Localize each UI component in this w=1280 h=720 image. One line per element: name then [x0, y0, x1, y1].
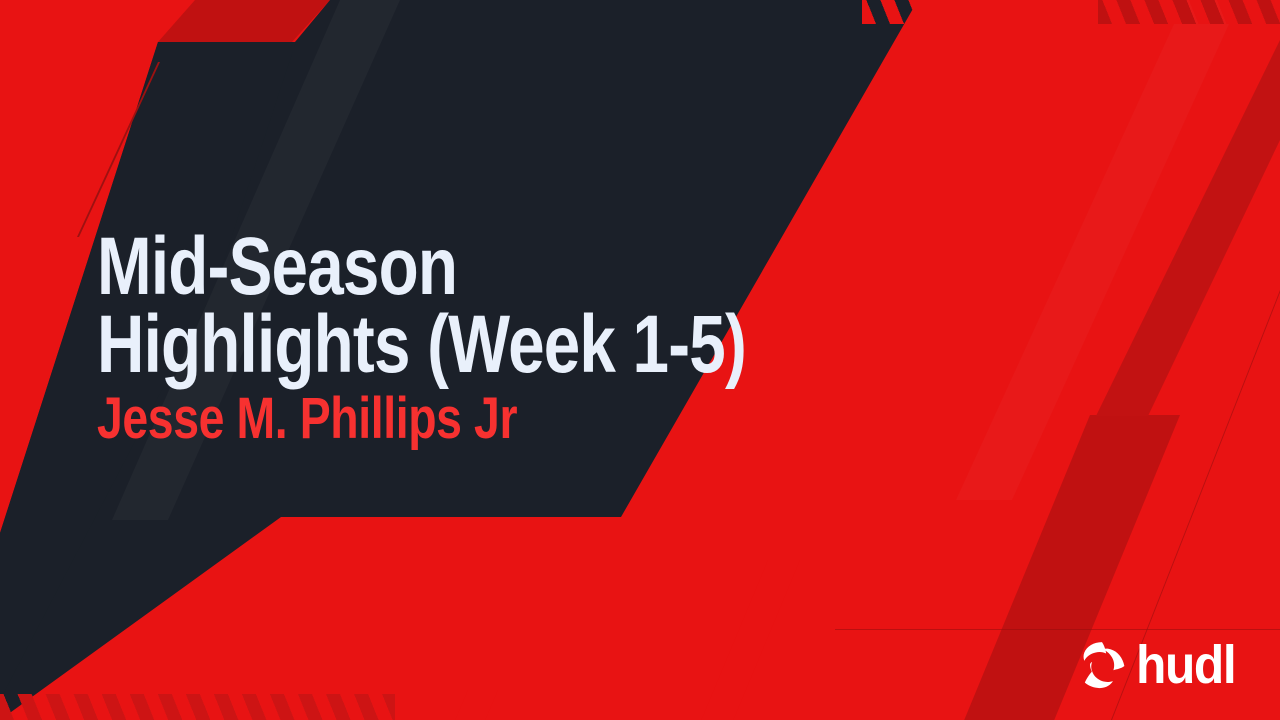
hudl-wordmark: hudl: [1136, 638, 1235, 692]
decorative-stripes-bottom-left: [0, 694, 395, 720]
athlete-name: Jesse M. Phillips Jr: [97, 390, 785, 448]
highlight-title-card: Mid-Season Highlights (Week 1-5) Jesse M…: [0, 0, 1280, 720]
hudl-logo: hudl: [1076, 638, 1244, 692]
page-title: Mid-Season Highlights (Week 1-5): [97, 228, 785, 384]
hudl-pinwheel-icon: [1076, 639, 1128, 691]
decorative-stripes-top-right-overlay: [1098, 0, 1280, 24]
title-block: Mid-Season Highlights (Week 1-5) Jesse M…: [97, 228, 957, 448]
decorative-hairline-horizontal: [835, 629, 1280, 630]
